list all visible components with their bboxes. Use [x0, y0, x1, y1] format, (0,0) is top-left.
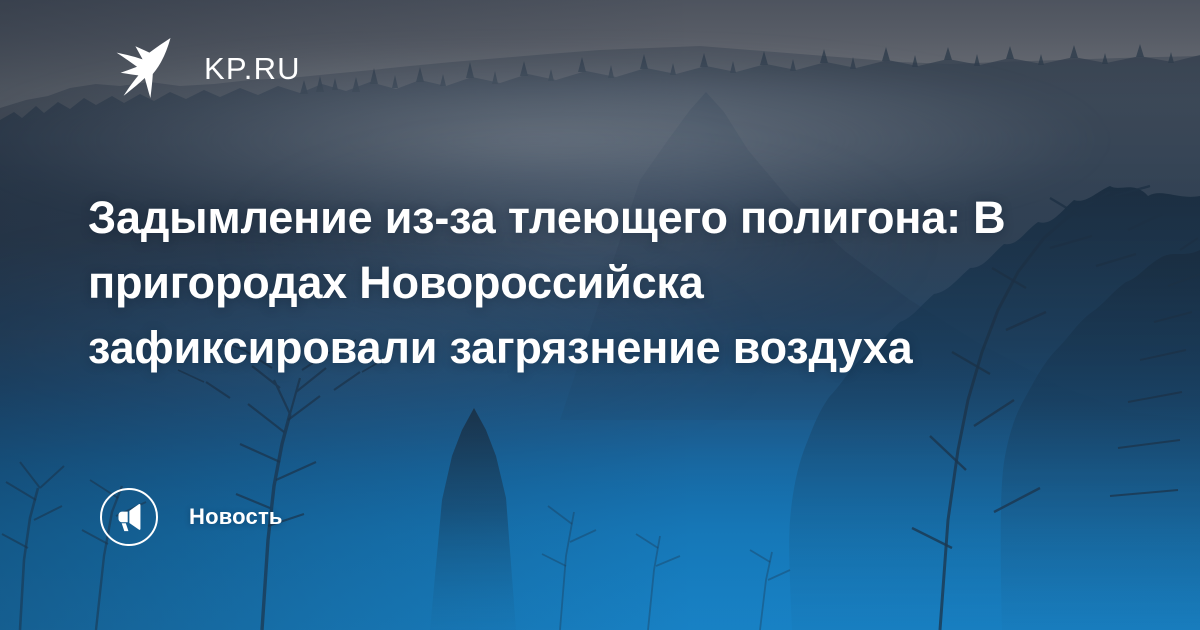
- megaphone-icon: [114, 502, 144, 532]
- social-share-card: KP.RU Задымление из-за тлеющего полигона…: [0, 0, 1200, 630]
- content-type-badge[interactable]: Новость: [100, 487, 283, 547]
- swallow-bird-icon: [108, 36, 180, 100]
- brand-name: KP.RU: [204, 53, 301, 84]
- badge-label: Новость: [189, 506, 283, 528]
- badge-circle: [100, 488, 158, 546]
- brand-lockup[interactable]: KP.RU: [108, 34, 301, 102]
- page-title: Задымление из-за тлеющего полигона: В пр…: [88, 185, 1018, 380]
